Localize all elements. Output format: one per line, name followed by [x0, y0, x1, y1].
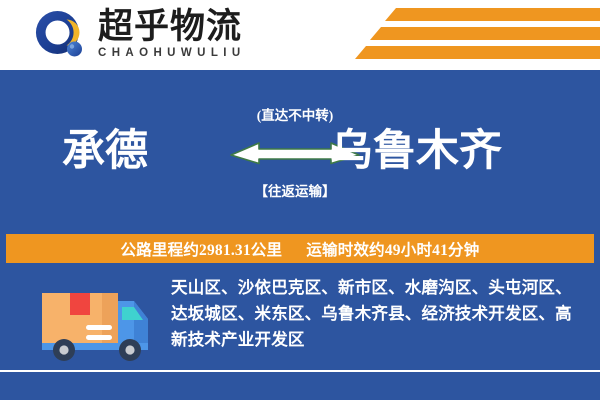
route-info-text: 公路里程约2981.31公里 运输时效约49小时41分钟 [121, 238, 480, 260]
destination-city: 乌鲁木齐 [330, 128, 502, 176]
route-info-bar: 公路里程约2981.31公里 运输时效约49小时41分钟 [6, 234, 594, 263]
footer-strip [0, 372, 600, 400]
route-section: 承德 (直达不中转) 【往返运输】 乌鲁木齐 [0, 70, 600, 233]
stripe-1 [385, 8, 600, 21]
logistics-route-banner: 超乎物流 CHAOHUWULIU 承德 (直达不中转) 【往返运输】 乌鲁木齐 … [0, 0, 600, 400]
stripe-3 [355, 46, 600, 59]
stripe-2 [370, 27, 600, 40]
orange-stripes-decoration [340, 8, 600, 64]
brand-text-block: 超乎物流 CHAOHUWULIU [98, 8, 298, 59]
delivery-truck-icon [30, 275, 160, 363]
direct-shipping-note: (直达不中转) [232, 104, 358, 124]
origin-city: 承德 [62, 128, 148, 176]
coverage-areas-text: 天山区、沙依巴克区、新市区、水磨沟区、头屯河区、达坂城区、米东区、乌鲁木齐县、经… [171, 275, 583, 353]
round-trip-note: 【往返运输】 [232, 180, 358, 200]
banner-header: 超乎物流 CHAOHUWULIU [0, 0, 600, 70]
brand-name-en: CHAOHUWULIU [98, 47, 298, 59]
distance-text: 公路里程约2981.31公里 [121, 242, 283, 259]
brand-name-cn: 超乎物流 [98, 8, 298, 46]
duration-text: 运输时效约49小时41分钟 [306, 242, 479, 259]
coverage-section: 天山区、沙依巴克区、新市区、水磨沟区、头屯河区、达坂城区、米东区、乌鲁木齐县、经… [0, 263, 600, 370]
circle-q-logo-icon [33, 9, 89, 61]
